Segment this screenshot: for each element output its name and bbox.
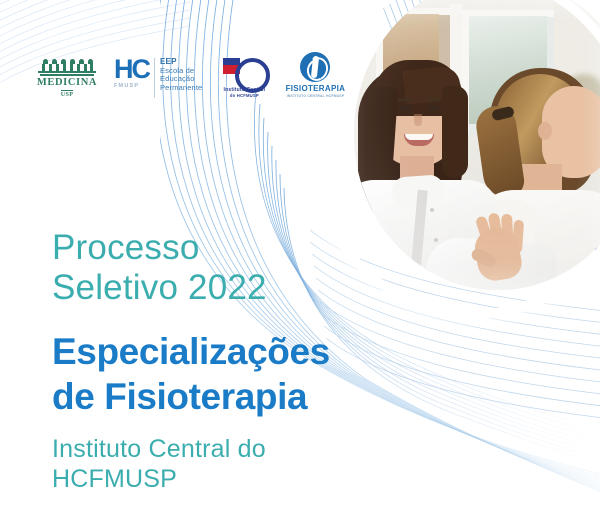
- logo-fisio-sub: INSTITUTO CENTRAL HCFMUSP: [287, 94, 345, 98]
- logo-hc-sub: FMUSP: [114, 83, 139, 89]
- logo-fisioterapia: FISIOTERAPIA INSTITUTO CENTRAL HCFMUSP: [286, 52, 344, 98]
- logo-ic-line-2: do HCFMUSP: [230, 93, 259, 98]
- banner-headline: Especializações de Fisioterapia: [52, 329, 412, 419]
- logo-hc-eep: HC FMUSP EEP Escola de Educação Permanen…: [114, 56, 202, 98]
- eep-text-block: EEP Escola de Educação Permanente: [160, 56, 202, 92]
- faculty-building-icon: [38, 63, 96, 76]
- spine-figure-icon: [300, 52, 330, 82]
- logo-divider: [154, 58, 155, 98]
- logo-medicina-usp: MEDICINA USP: [36, 63, 98, 98]
- logo-medicina-name: MEDICINA: [37, 77, 97, 89]
- banner-eyebrow: Processo Seletivo 2022: [52, 228, 382, 308]
- logo-row: MEDICINA USP HC FMUSP EEP Escola de Educ…: [36, 50, 344, 98]
- logo-eep-line-3: Permanente: [160, 84, 202, 93]
- logo-hc-letters: HC: [114, 56, 149, 82]
- logo-medicina-sub: USP: [61, 90, 74, 98]
- promotional-banner: MEDICINA USP HC FMUSP EEP Escola de Educ…: [0, 0, 600, 515]
- logo-fisio-name: FISIOTERAPIA: [286, 84, 346, 93]
- banner-subline: Instituto Central do HCFMUSP: [52, 434, 382, 494]
- hc-mark: HC FMUSP: [114, 56, 149, 89]
- logo-instituto-central: Instituto Central do HCFMUSP: [218, 56, 270, 98]
- circle-ring-icon: [222, 56, 266, 86]
